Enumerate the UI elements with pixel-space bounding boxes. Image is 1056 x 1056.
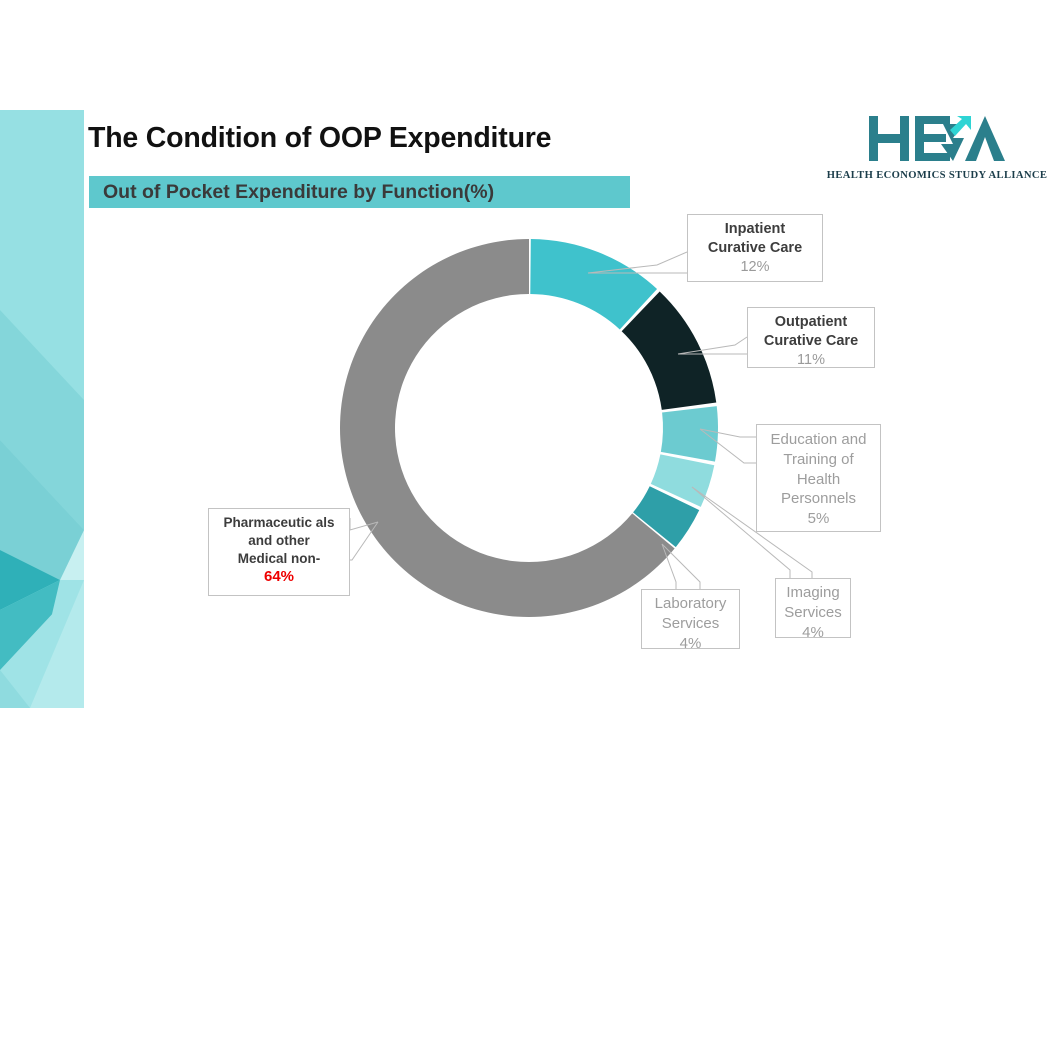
callout-education-training-health-personnels: Education and Training of Health Personn… bbox=[756, 424, 881, 532]
callout-label: Laboratory Services bbox=[642, 594, 739, 634]
callout-label: Pharmaceutic als and other Medical non- bbox=[209, 514, 349, 567]
leader-line-laboratory-b bbox=[662, 544, 700, 589]
chart-subtitle-text: Out of Pocket Expenditure by Function(%) bbox=[89, 181, 494, 204]
leader-lines-group bbox=[350, 252, 812, 589]
callout-value: 11% bbox=[748, 351, 874, 370]
chart-subtitle-banner: Out of Pocket Expenditure by Function(%) bbox=[89, 176, 630, 208]
callout-label: Imaging Services bbox=[776, 583, 850, 623]
callout-imaging-services: Imaging Services 4% bbox=[775, 578, 851, 638]
callout-value: 5% bbox=[757, 509, 880, 529]
leader-line-education-b bbox=[700, 429, 756, 463]
callout-value: 4% bbox=[642, 634, 739, 654]
donut-slice bbox=[661, 406, 718, 462]
callout-value: 12% bbox=[688, 258, 822, 277]
leader-line-laboratory bbox=[662, 544, 676, 589]
decorative-polygon-art bbox=[0, 110, 84, 708]
leader-line-inpatient bbox=[588, 252, 687, 273]
organization-logo: HEALTH ECONOMICS STUDY ALLIANCE bbox=[826, 110, 1048, 181]
donut-slice bbox=[651, 454, 715, 506]
hesa-logo-icon bbox=[867, 110, 1007, 168]
logo-tagline: HEALTH ECONOMICS STUDY ALLIANCE bbox=[826, 170, 1048, 181]
leader-line-pharma bbox=[350, 518, 378, 530]
donut-slice bbox=[530, 239, 657, 329]
donut-slice bbox=[622, 291, 717, 409]
page-title: The Condition of OOP Expenditure bbox=[88, 122, 551, 155]
callout-inpatient-curative-care: Inpatient Curative Care 12% bbox=[687, 214, 823, 282]
callout-value: 64% bbox=[209, 567, 349, 587]
callout-value: 4% bbox=[776, 623, 850, 643]
callout-label: Education and Training of Health Personn… bbox=[757, 430, 880, 509]
leader-line-education bbox=[700, 429, 756, 437]
callout-label: Inpatient Curative Care bbox=[688, 220, 822, 258]
leader-line-outpatient bbox=[678, 337, 747, 354]
callout-outpatient-curative-care: Outpatient Curative Care 11% bbox=[747, 307, 875, 368]
donut-slice bbox=[633, 486, 699, 547]
donut-slices-group bbox=[340, 239, 718, 617]
callout-laboratory-services: Laboratory Services 4% bbox=[641, 589, 740, 649]
donut-slice bbox=[340, 239, 675, 617]
leader-line-inpatient-b bbox=[588, 252, 700, 273]
decorative-sidebar-panel bbox=[0, 110, 84, 708]
leader-line-pharma-b bbox=[350, 522, 378, 560]
callout-label: Outpatient Curative Care bbox=[748, 313, 874, 351]
callout-pharmaceuticals-and-other-medical-nondurables: Pharmaceutic als and other Medical non- … bbox=[208, 508, 350, 596]
